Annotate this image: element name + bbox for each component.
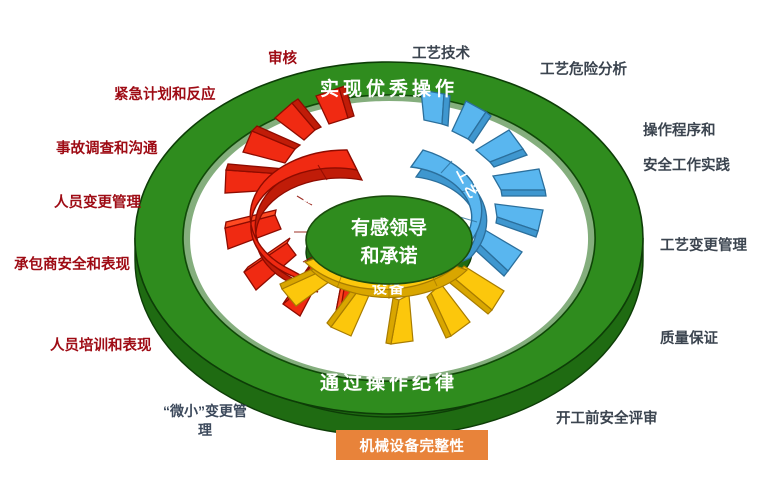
label-safe-work-practices: 安全工作实践 [643,157,730,177]
label-emergency-planning: 紧急计划和反应 [114,86,216,106]
label-personnel-training: 人员培训和表现 [50,337,152,357]
label-contractor-safety: 承包商安全和表现 [14,256,130,276]
label-minor-change-mgmt: “微小”变更管 理 [140,402,270,440]
label-personnel-change-mgmt: 人员变更管理 [54,194,141,214]
label-quality-assurance: 质量保证 [660,330,718,350]
center-hub[interactable]: 有感领导 和承诺 [306,196,472,284]
label-process-technology: 工艺技术 [412,45,470,65]
ring-top-text: 实现优秀操作 [320,77,458,100]
hub-line-1: 有感领导 [351,216,427,239]
label-audit: 审核 [268,50,297,70]
label-process-hazard-analysis: 工艺危险分析 [540,61,627,81]
label-process-change-mgmt: 工艺变更管理 [660,237,747,257]
highlight-box-label: 机械设备完整性 [360,435,465,456]
hub-line-2: 和承诺 [360,244,417,267]
label-pre-startup-safety-review: 开工前安全评审 [556,410,658,430]
wheel-diagram-canvas: 人员 [0,0,778,482]
ring-bottom-text: 通过操作纪律 [320,371,458,394]
highlight-box-mechanical-integrity[interactable]: 机械设备完整性 [336,430,488,460]
label-incident-investigation: 事故调查和沟通 [56,140,158,160]
label-operating-procedures: 操作程序和 [643,122,716,142]
